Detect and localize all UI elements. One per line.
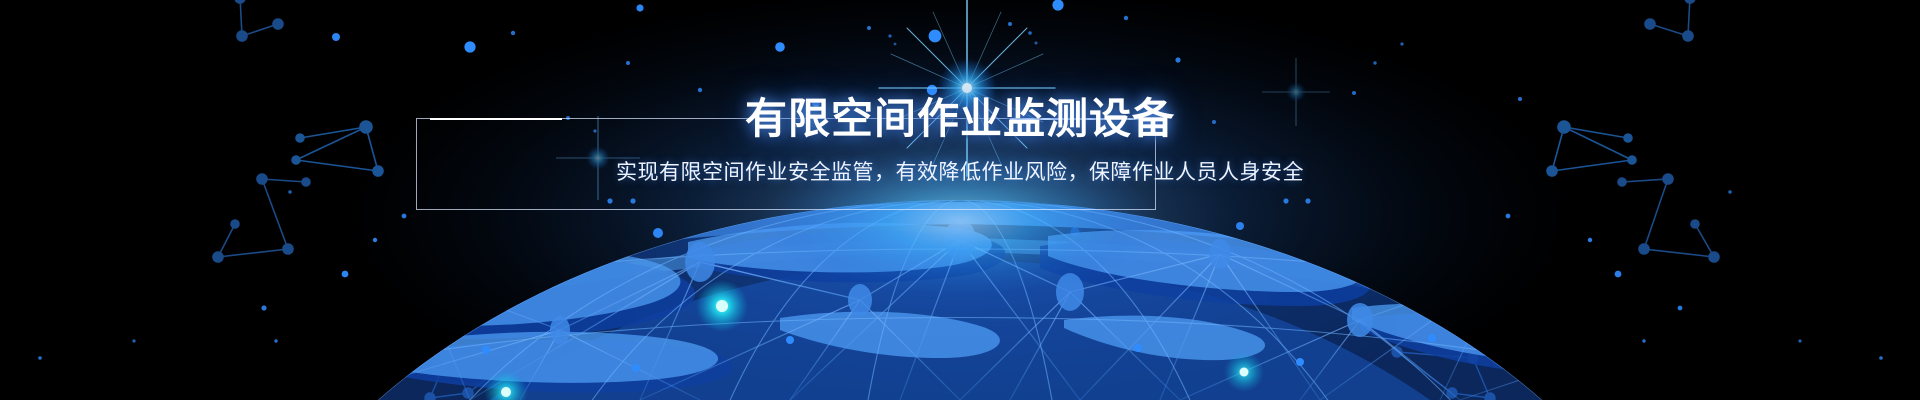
banner-subtitle: 实现有限空间作业安全监管，有效降低作业风险，保障作业人员人身安全 [0,158,1920,188]
banner-text-block: 有限空间作业监测设备 实现有限空间作业安全监管，有效降低作业风险，保障作业人员人… [0,0,1920,400]
banner-title: 有限空间作业监测设备 [0,95,1920,143]
hero-banner: 有限空间作业监测设备 实现有限空间作业安全监管，有效降低作业风险，保障作业人员人… [0,0,1920,400]
